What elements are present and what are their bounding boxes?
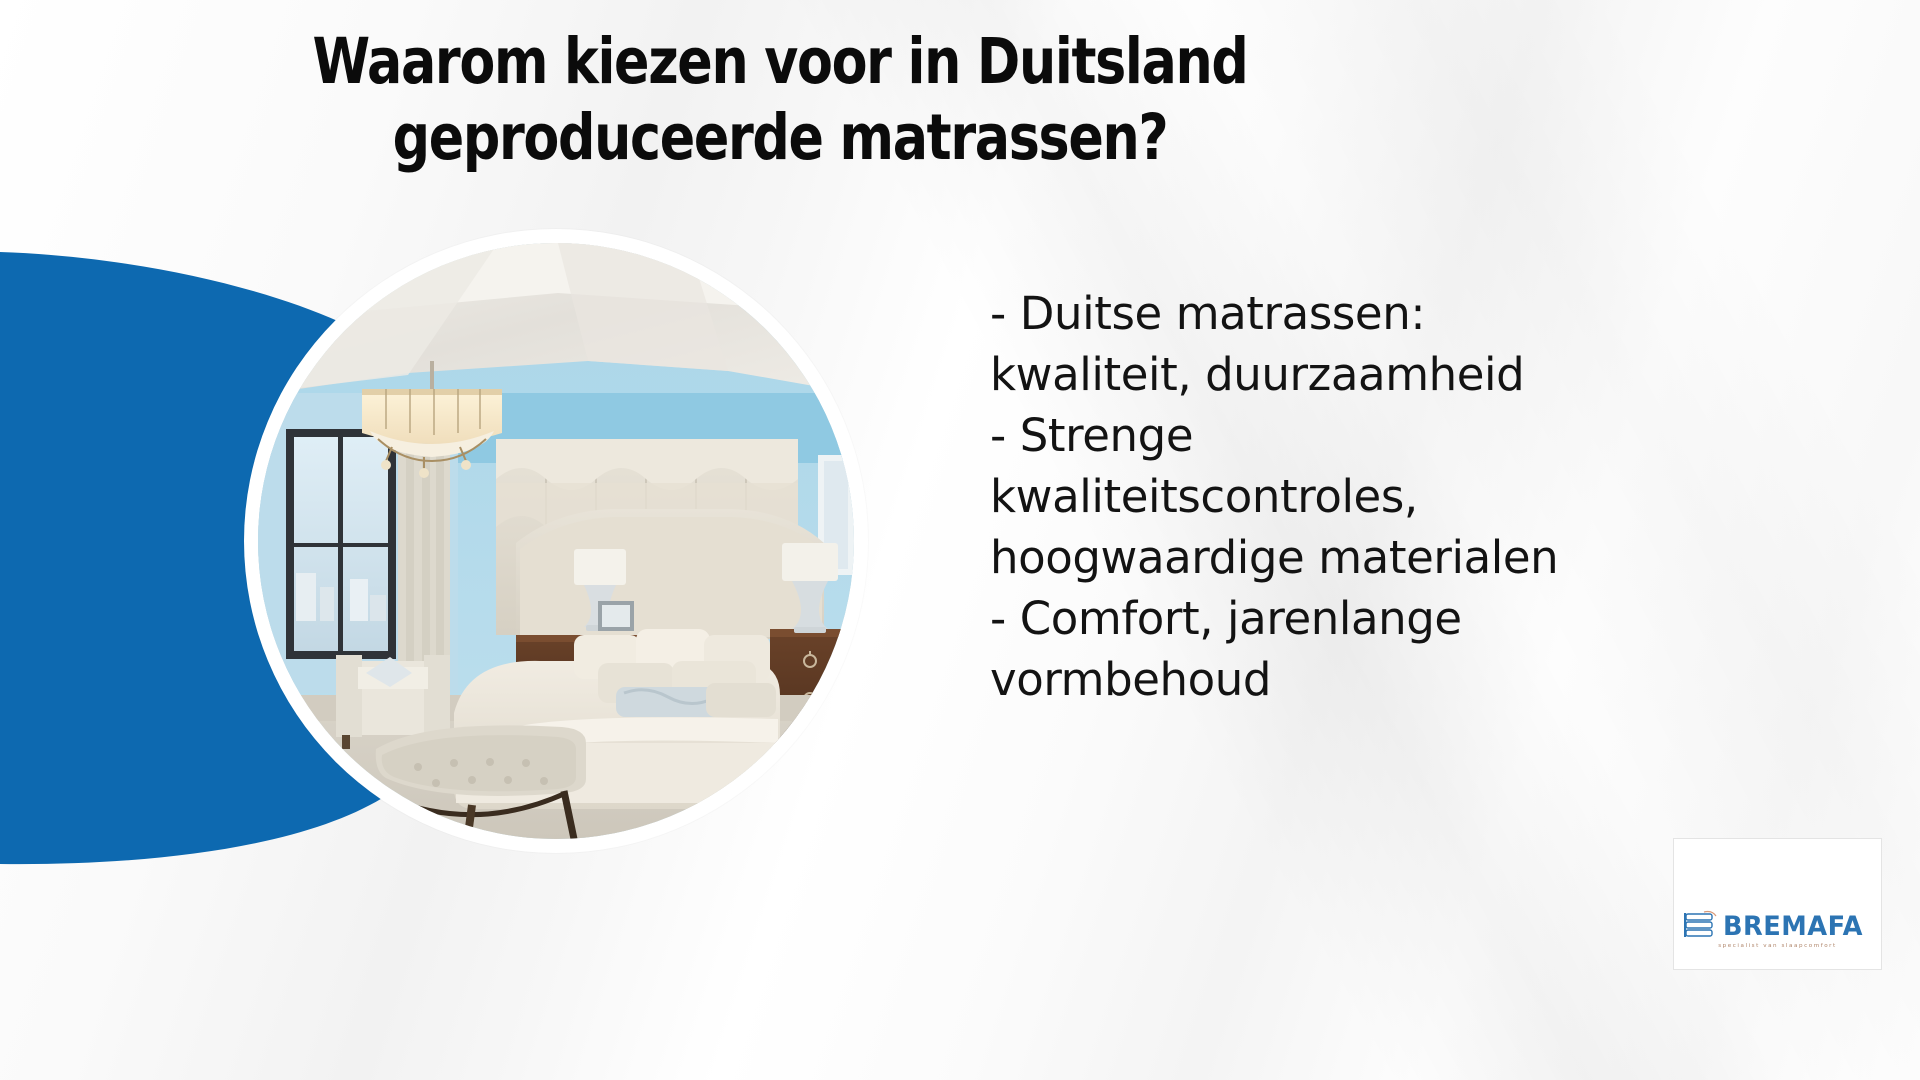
mattress-stack-icon <box>1684 910 1718 940</box>
title-line-1: Waarom kiezen voor in Duitsland <box>133 24 1428 100</box>
bremafa-logo[interactable]: BREMAFA specialist van slaapcomfort <box>1673 838 1882 970</box>
benefit-line-7: vormbehoud <box>990 649 1810 710</box>
benefit-line-1: - Duitse matrassen: <box>990 283 1810 344</box>
logo-wordmark: BREMAFA <box>1723 913 1863 940</box>
benefits-list: - Duitse matrassen: kwaliteit, duurzaamh… <box>990 283 1810 710</box>
benefit-line-2: kwaliteit, duurzaamheid <box>990 344 1810 405</box>
bedroom-photo <box>244 229 868 853</box>
bedroom-photo-clip <box>258 243 854 839</box>
logo-row: BREMAFA <box>1684 910 1870 940</box>
logo-tagline: specialist van slaapcomfort <box>1718 943 1837 949</box>
benefits-paragraph: - Duitse matrassen: kwaliteit, duurzaamh… <box>990 283 1810 710</box>
title-line-2: geproduceerde matrassen? <box>133 100 1428 176</box>
page-title: Waarom kiezen voor in Duitsland geproduc… <box>0 24 1560 176</box>
benefit-line-6: - Comfort, jarenlange <box>990 588 1810 649</box>
benefit-line-5: hoogwaardige materialen <box>990 527 1810 588</box>
bedroom-photo-illustration <box>258 243 854 839</box>
benefit-line-3: - Strenge <box>990 405 1810 466</box>
benefit-line-4: kwaliteitscontroles, <box>990 466 1810 527</box>
slide-canvas: Waarom kiezen voor in Duitsland geproduc… <box>0 0 1920 1080</box>
